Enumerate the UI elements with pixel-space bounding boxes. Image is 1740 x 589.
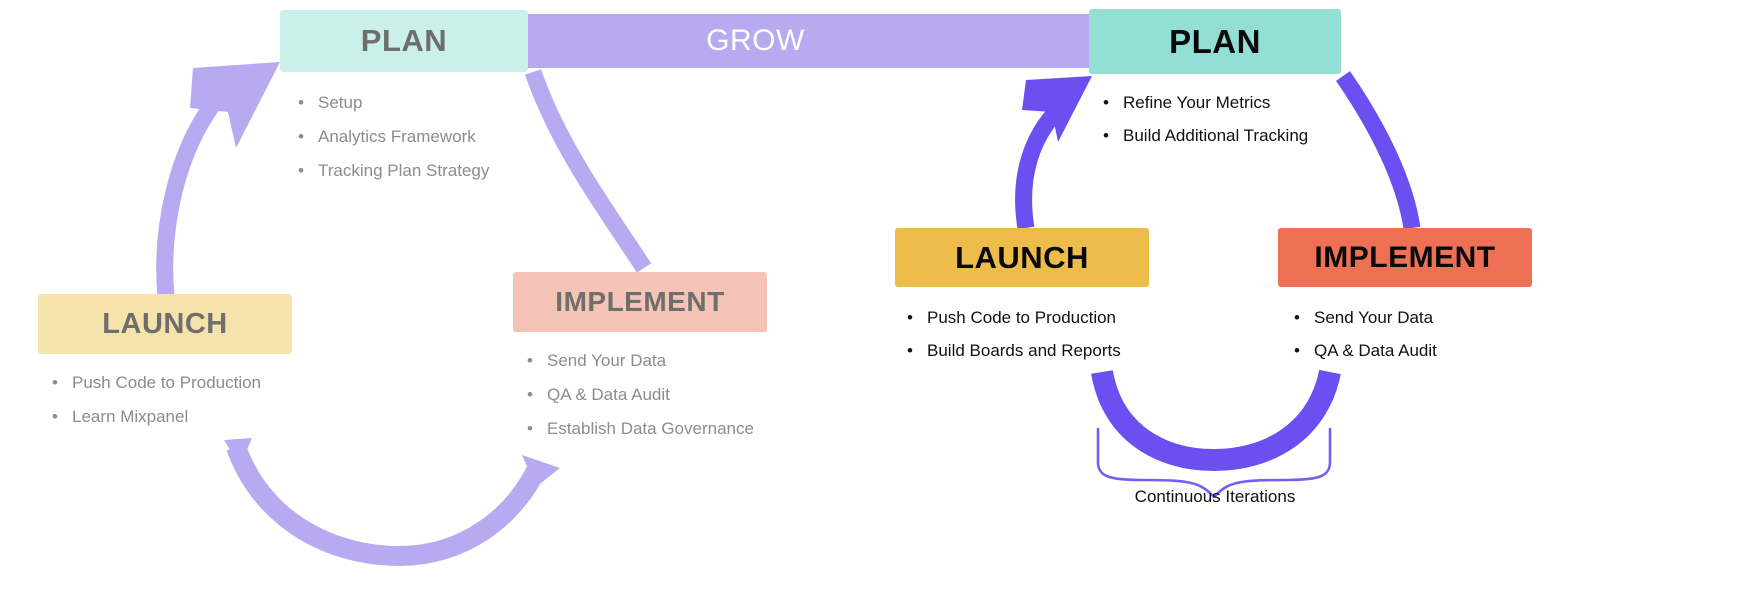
arrowhead-right-plan (1022, 76, 1092, 142)
node-implement-left-title: IMPLEMENT (513, 272, 767, 332)
list-item: Setup (292, 86, 528, 120)
list-item: Build Boards and Reports (901, 334, 1149, 367)
arrowhead-left-bottom (522, 455, 560, 487)
list-item: QA & Data Audit (521, 378, 767, 412)
arrowhead-left-bottom-start (224, 438, 252, 466)
list-item: Send Your Data (521, 344, 767, 378)
list-item: QA & Data Audit (1288, 334, 1532, 367)
grow-banner: GROW (528, 14, 1018, 68)
node-implement-right-title: IMPLEMENT (1278, 228, 1532, 287)
arrow-left-plan-to-implement (533, 72, 644, 268)
list-item: Push Code to Production (46, 366, 292, 400)
list-item: Build Additional Tracking (1097, 119, 1341, 152)
arrow-left-launch-to-plan (165, 104, 213, 296)
list-item: Refine Your Metrics (1097, 86, 1341, 119)
node-launch-left[interactable]: LAUNCH Push Code to Production Learn Mix… (38, 294, 292, 434)
node-implement-right[interactable]: IMPLEMENT Send Your Data QA & Data Audit (1278, 228, 1532, 367)
node-plan-right[interactable]: PLAN Refine Your Metrics Build Additiona… (1089, 9, 1341, 152)
grow-banner-label: GROW (528, 14, 983, 68)
list-item: Push Code to Production (901, 301, 1149, 334)
node-plan-left-bullets: Setup Analytics Framework Tracking Plan … (292, 86, 528, 188)
list-item: Analytics Framework (292, 120, 528, 154)
list-item: Send Your Data (1288, 301, 1532, 334)
node-launch-left-title: LAUNCH (38, 294, 292, 354)
node-plan-left-title: PLAN (280, 10, 528, 72)
node-launch-right-title: LAUNCH (895, 228, 1149, 287)
node-launch-left-bullets: Push Code to Production Learn Mixpanel (46, 366, 292, 434)
list-item: Learn Mixpanel (46, 400, 292, 434)
arrow-left-implement-to-launch (236, 447, 540, 556)
arrowhead-left-plan (190, 62, 280, 148)
node-plan-right-bullets: Refine Your Metrics Build Additional Tra… (1097, 86, 1341, 152)
node-implement-right-bullets: Send Your Data QA & Data Audit (1288, 301, 1532, 367)
node-implement-left-bullets: Send Your Data QA & Data Audit Establish… (521, 344, 767, 446)
node-launch-right-bullets: Push Code to Production Build Boards and… (901, 301, 1149, 367)
node-plan-left[interactable]: PLAN Setup Analytics Framework Tracking … (280, 10, 528, 188)
arrow-right-implement-to-launch (1102, 372, 1330, 460)
diagram-canvas: GROW PLAN Setup Analytics Framework Trac… (0, 0, 1740, 589)
node-implement-left[interactable]: IMPLEMENT Send Your Data QA & Data Audit… (513, 272, 767, 446)
continuous-iterations-caption: Continuous Iterations (1080, 487, 1350, 507)
arrow-right-plan-to-implement (1343, 76, 1412, 228)
arrow-right-launch-to-plan (1024, 106, 1062, 228)
node-plan-right-title: PLAN (1089, 9, 1341, 74)
list-item: Tracking Plan Strategy (292, 154, 528, 188)
node-launch-right[interactable]: LAUNCH Push Code to Production Build Boa… (895, 228, 1149, 367)
list-item: Establish Data Governance (521, 412, 767, 446)
